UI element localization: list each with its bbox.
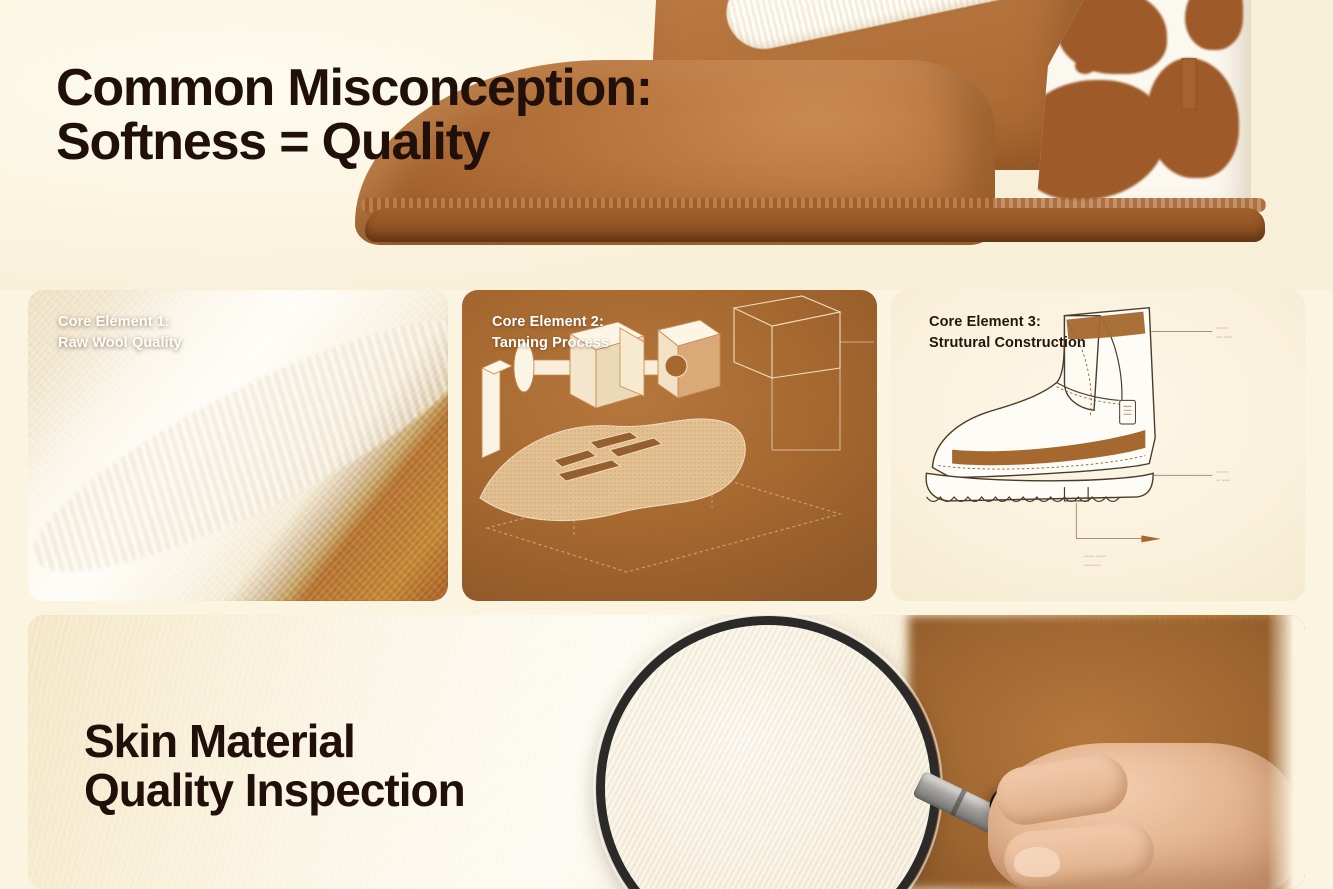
boot-sole — [365, 208, 1265, 242]
core-elements-row: Core Element 1: Raw Wool Quality — [28, 290, 1305, 601]
boot-annotation-1: ▫▫▫▫▫▫ — [1216, 325, 1228, 331]
banner-right-fade — [1267, 615, 1305, 889]
core-element-card-2[interactable]: ▫▫▫▫ Core Element 2: Tanning Process — [462, 290, 877, 601]
cow-print-heel-panel — [1035, 0, 1251, 222]
page-title: Common Misconception: Softness = Quality — [56, 62, 652, 169]
cow-spot — [1035, 80, 1167, 200]
core-element-card-3[interactable]: ▫▫▫▫▫▫ ▫▫▫ ▫▫▫▫ ▫▫▫▫▫▫ ▫▫ ▫▫▫▫ ▫▫▫▫▫ ▫▫▫… — [891, 290, 1305, 601]
annotation-arrow-icon — [1141, 535, 1161, 542]
cow-spot — [1075, 58, 1095, 74]
cow-spot — [1185, 0, 1243, 50]
magnifying-glass-icon — [596, 616, 940, 889]
boot-annotation-3b: ▫▫▫▫▫▫▫▫ — [1084, 563, 1101, 569]
boot-annotation-1b: ▫▫▫ ▫▫▫▫ — [1216, 334, 1232, 340]
boot-annotation-2: ▫▫▫▫▫▫ — [1216, 469, 1228, 475]
infographic-page: Common Misconception: Softness = Quality… — [0, 0, 1333, 889]
fingernail — [1014, 847, 1060, 877]
hero-section: Common Misconception: Softness = Quality — [0, 0, 1333, 290]
banner-title: Skin Material Quality Inspection — [84, 717, 465, 815]
boot-brand-tag — [1120, 400, 1136, 424]
core-element-card-3-title: Core Element 3: Strutural Construction — [929, 312, 1086, 353]
boot-brand-label-tag — [1181, 58, 1197, 110]
diagram-annotation-label-2: ▫▫▫▫ — [844, 340, 852, 346]
core-element-card-1-title: Core Element 1: Raw Wool Quality — [58, 312, 182, 353]
core-element-card-1[interactable]: Core Element 1: Raw Wool Quality — [28, 290, 448, 601]
boot-annotation-2b: ▫▫ ▫▫▫▫ — [1216, 478, 1230, 484]
magnifier-lens — [596, 616, 940, 889]
core-element-card-2-title: Core Element 2: Tanning Process — [492, 312, 609, 353]
inspection-banner: Skin Material Quality Inspection — [28, 615, 1305, 889]
boot-annotation-3: ▫▫▫▫▫ ▫▫▫▫▫ — [1084, 554, 1106, 560]
hand-holding-magnifier — [988, 735, 1305, 889]
